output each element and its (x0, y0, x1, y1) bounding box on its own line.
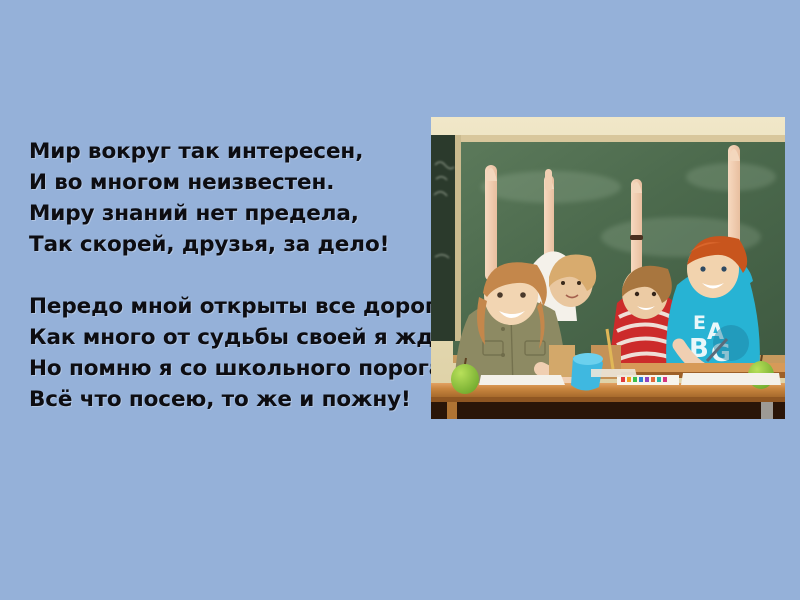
green-apple (451, 364, 479, 394)
poem-line: Передо мной открыты все дороги, (29, 291, 429, 322)
poem-line: И во многом неизвестен. (29, 167, 429, 198)
notebook (479, 375, 565, 385)
cup (549, 345, 575, 377)
classroom-photo-image: E A B G (431, 117, 785, 419)
notebook (681, 373, 781, 385)
poem-line: Так скорей, друзья, за дело! (29, 229, 429, 260)
presentation-slide: Мир вокруг так интересен, И во многом не… (0, 0, 800, 600)
svg-text:E: E (693, 312, 706, 334)
poem-line: Но помню я со школьного порога: (29, 353, 429, 384)
poem-stanza-gap (29, 260, 429, 291)
poem-line: Миру знаний нет предела, (29, 198, 429, 229)
poem-line: Как много от судьбы своей я жду. (29, 322, 429, 353)
poem-text-block: Мир вокруг так интересен, И во многом не… (29, 136, 429, 415)
poem-line: Всё что посею, то же и пожну! (29, 384, 429, 415)
poem-line: Мир вокруг так интересен, (29, 136, 429, 167)
classroom-photo: E A B G (431, 117, 785, 419)
